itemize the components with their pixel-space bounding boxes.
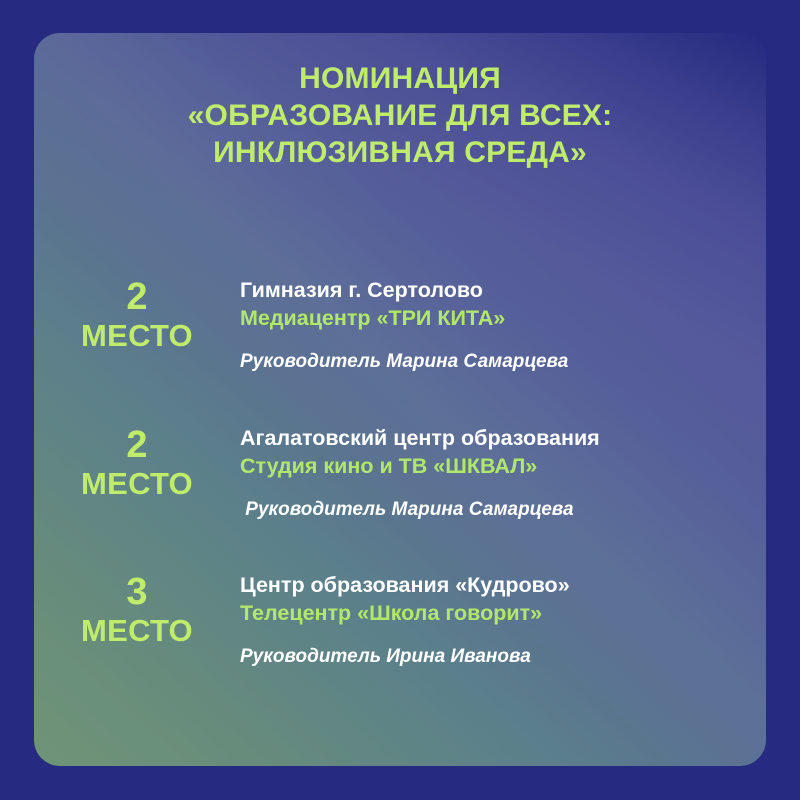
award-row: 3 МЕСТО Центр образования «Кудрово» Теле… [34,543,766,669]
leader-name: Руководитель Марина Самарцева [240,349,766,374]
award-details: Агалатовский центр образования Студия ки… [240,396,766,522]
award-details: Центр образования «Кудрово» Телецентр «Ш… [240,543,766,669]
award-details: Гимназия г. Сертолово Медиацентр «ТРИ КИ… [240,248,766,374]
place-number: 2 [34,276,240,318]
award-card: НОМИНАЦИЯ «ОБРАЗОВАНИЕ ДЛЯ ВСЕХ: ИНКЛЮЗИ… [34,33,766,766]
award-row: 2 МЕСТО Агалатовский центр образования С… [34,396,766,522]
organization-name: Центр образования «Кудрово» [240,571,766,599]
place-number: 2 [34,424,240,466]
place-label: МЕСТО [34,318,240,354]
place-badge: 3 МЕСТО [34,543,240,649]
leader-name: Руководитель Ирина Иванова [240,644,766,669]
page-title-line-2: «ОБРАЗОВАНИЕ ДЛЯ ВСЕХ: [34,97,766,134]
page-title: НОМИНАЦИЯ «ОБРАЗОВАНИЕ ДЛЯ ВСЕХ: ИНКЛЮЗИ… [34,60,766,171]
leader-name: Руководитель Марина Самарцева [240,497,766,522]
page-title-line-3: ИНКЛЮЗИВНАЯ СРЕДА» [34,134,766,171]
team-name: Медиацентр «ТРИ КИТА» [240,304,766,332]
team-name: Студия кино и ТВ «ШКВАЛ» [240,452,766,480]
place-number: 3 [34,571,240,613]
organization-name: Агалатовский центр образования [240,424,766,452]
poster-root: НОМИНАЦИЯ «ОБРАЗОВАНИЕ ДЛЯ ВСЕХ: ИНКЛЮЗИ… [0,0,800,800]
place-badge: 2 МЕСТО [34,396,240,502]
place-label: МЕСТО [34,613,240,649]
award-row: 2 МЕСТО Гимназия г. Сертолово Медиацентр… [34,248,766,374]
card-content: НОМИНАЦИЯ «ОБРАЗОВАНИЕ ДЛЯ ВСЕХ: ИНКЛЮЗИ… [34,33,766,766]
place-badge: 2 МЕСТО [34,248,240,354]
organization-name: Гимназия г. Сертолово [240,276,766,304]
team-name: Телецентр «Школа говорит» [240,599,766,627]
page-title-line-1: НОМИНАЦИЯ [34,60,766,97]
place-label: МЕСТО [34,466,240,502]
